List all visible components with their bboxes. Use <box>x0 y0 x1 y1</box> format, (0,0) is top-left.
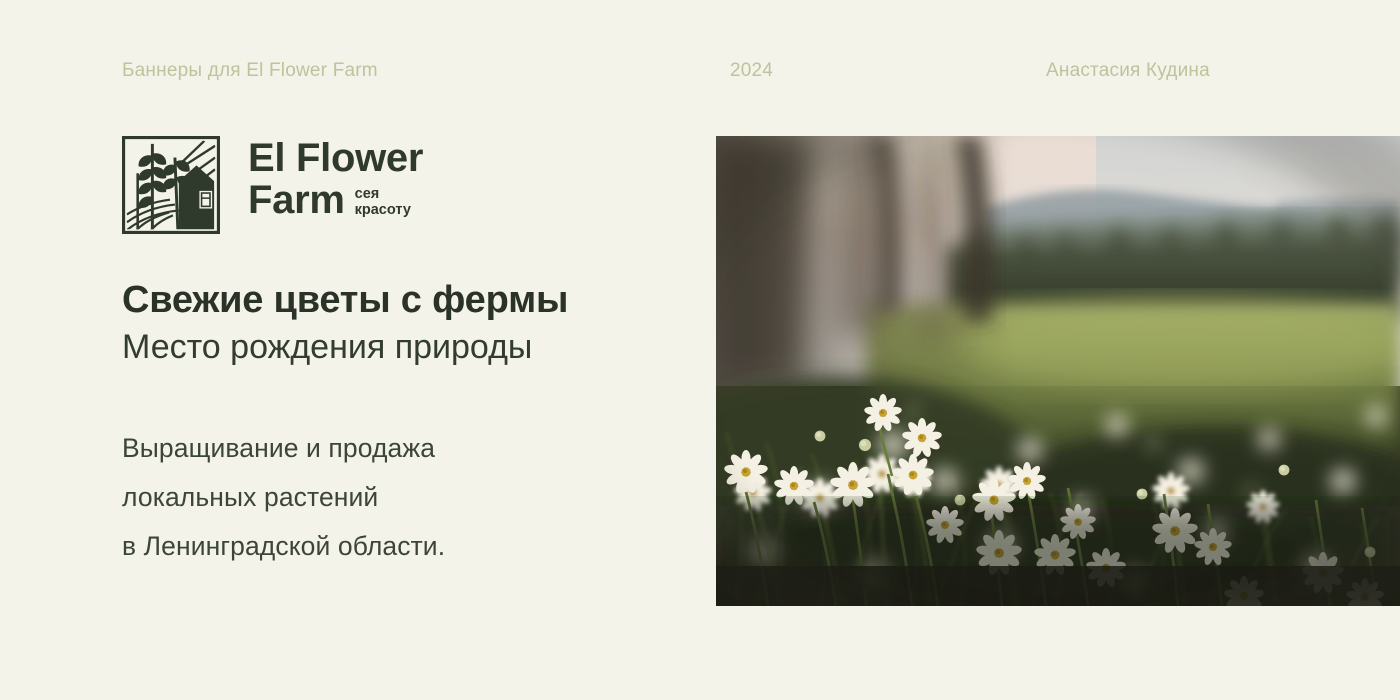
banner-body-line-2: локальных растений <box>122 473 445 522</box>
header-year: 2024 <box>730 60 773 82</box>
banner-subheadline: Место рождения природы <box>122 327 568 368</box>
banner-headline: Свежие цветы с фермы <box>122 278 568 323</box>
brand-logo[interactable]: El Flower Farm сея красоту <box>122 136 423 234</box>
brand-name-line-1: El Flower <box>248 138 423 180</box>
brand-name-line-2: Farm <box>248 180 345 222</box>
farm-house-plants-square-icon <box>122 136 220 234</box>
banner-photo-daisy-meadow <box>716 136 1400 606</box>
banner-headline-block: Свежие цветы с фермы Место рождения прир… <box>122 278 568 368</box>
brand-tagline: сея красоту <box>355 186 411 218</box>
banner-left-panel: El Flower Farm сея красоту Свежие цветы … <box>0 0 716 700</box>
banner-body-line-1: Выращивание и продажа <box>122 424 445 473</box>
brand-tagline-line-2: красоту <box>355 202 411 218</box>
brand-wordmark: El Flower Farm сея красоту <box>248 136 423 221</box>
banner-body-copy: Выращивание и продажа локальных растений… <box>122 424 445 571</box>
banner-body-line-3: в Ленинградской области. <box>122 522 445 571</box>
header-author: Анастасия Кудина <box>1046 60 1210 82</box>
daisy-meadow-illustration <box>716 136 1400 606</box>
brand-tagline-line-1: сея <box>355 186 411 202</box>
